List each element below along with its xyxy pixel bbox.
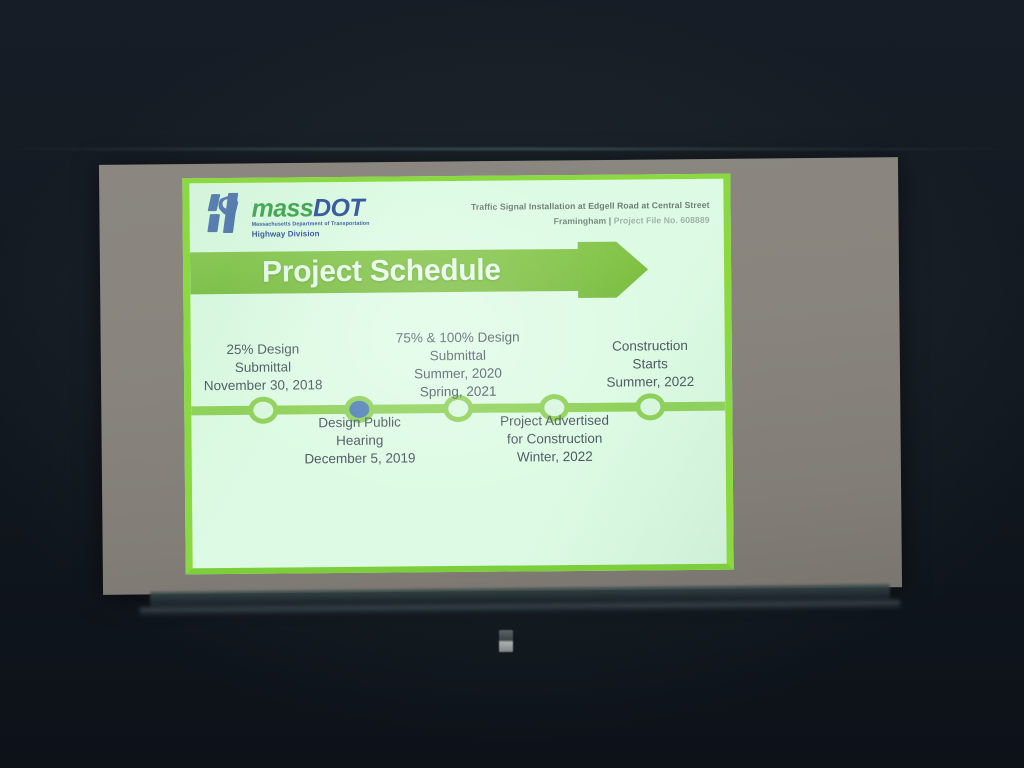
milestone-1-line1: 25% Design (203, 340, 322, 359)
logo-subtitle: Massachusetts Department of Transportati… (252, 221, 370, 228)
logo-glyph-bar-a (208, 194, 221, 211)
milestone-label-3: 75% & 100% Design Submittal Summer, 2020… (396, 328, 520, 401)
slide-header: massDOT Massachusetts Department of Tran… (189, 179, 724, 244)
milestone-label-2: Design Public Hearing December 5, 2019 (304, 413, 416, 468)
massdot-logo-text: massDOT Massachusetts Department of Tran… (251, 191, 369, 239)
milestone-label-1: 25% Design Submittal November 30, 2018 (203, 340, 322, 395)
milestone-2-line1: Design Public (304, 413, 415, 432)
logo-word-dot: DOT (313, 194, 364, 222)
project-header-line2: Framingham | Project File No. 608889 (471, 213, 710, 230)
milestone-2-date: December 5, 2019 (304, 450, 415, 469)
wall-plate (499, 630, 513, 652)
slide-title: Project Schedule (262, 240, 603, 303)
milestone-5-line2: Starts (606, 355, 694, 374)
milestone-3-line2: Submittal (396, 346, 520, 365)
milestone-4-line2: for Construction (500, 430, 609, 449)
project-header-info: Traffic Signal Installation at Edgell Ro… (471, 188, 710, 230)
logo-word-mass: mass (251, 194, 313, 223)
milestone-3-date2: Spring, 2021 (396, 382, 520, 401)
milestone-5-date: Summer, 2022 (606, 373, 694, 392)
projected-slide: massDOT Massachusetts Department of Tran… (182, 174, 733, 575)
milestone-1-line2: Submittal (204, 358, 323, 377)
project-file-number: Project File No. 608889 (614, 215, 710, 226)
milestone-2-line2: Hearing (304, 431, 415, 450)
milestone-1-date: November 30, 2018 (204, 376, 323, 395)
milestone-3-line1: 75% & 100% Design (396, 328, 520, 347)
milestone-label-4: Project Advertised for Construction Wint… (500, 412, 609, 467)
project-timeline: 25% Design Submittal November 30, 2018 D… (190, 299, 726, 504)
logo-glyph-bar-b (207, 214, 220, 232)
project-header-separator: | (609, 216, 612, 226)
milestone-5-line1: Construction (606, 337, 694, 356)
massdot-logo: massDOT Massachusetts Department of Tran… (207, 191, 369, 239)
milestone-3-date1: Summer, 2020 (396, 364, 520, 383)
timeline-node-1[interactable] (248, 397, 278, 424)
milestone-4-line1: Project Advertised (500, 412, 609, 431)
massdot-wordmark: massDOT (251, 196, 369, 222)
slide-canvas: massDOT Massachusetts Department of Tran… (182, 174, 733, 575)
massdot-logo-icon (207, 192, 249, 234)
milestone-4-date: Winter, 2022 (500, 448, 609, 467)
wall-seam (0, 148, 1024, 150)
logo-division: Highway Division (252, 229, 370, 239)
project-municipality: Framingham (554, 216, 607, 226)
milestone-label-5: Construction Starts Summer, 2022 (606, 337, 694, 392)
timeline-node-5[interactable] (635, 393, 665, 420)
